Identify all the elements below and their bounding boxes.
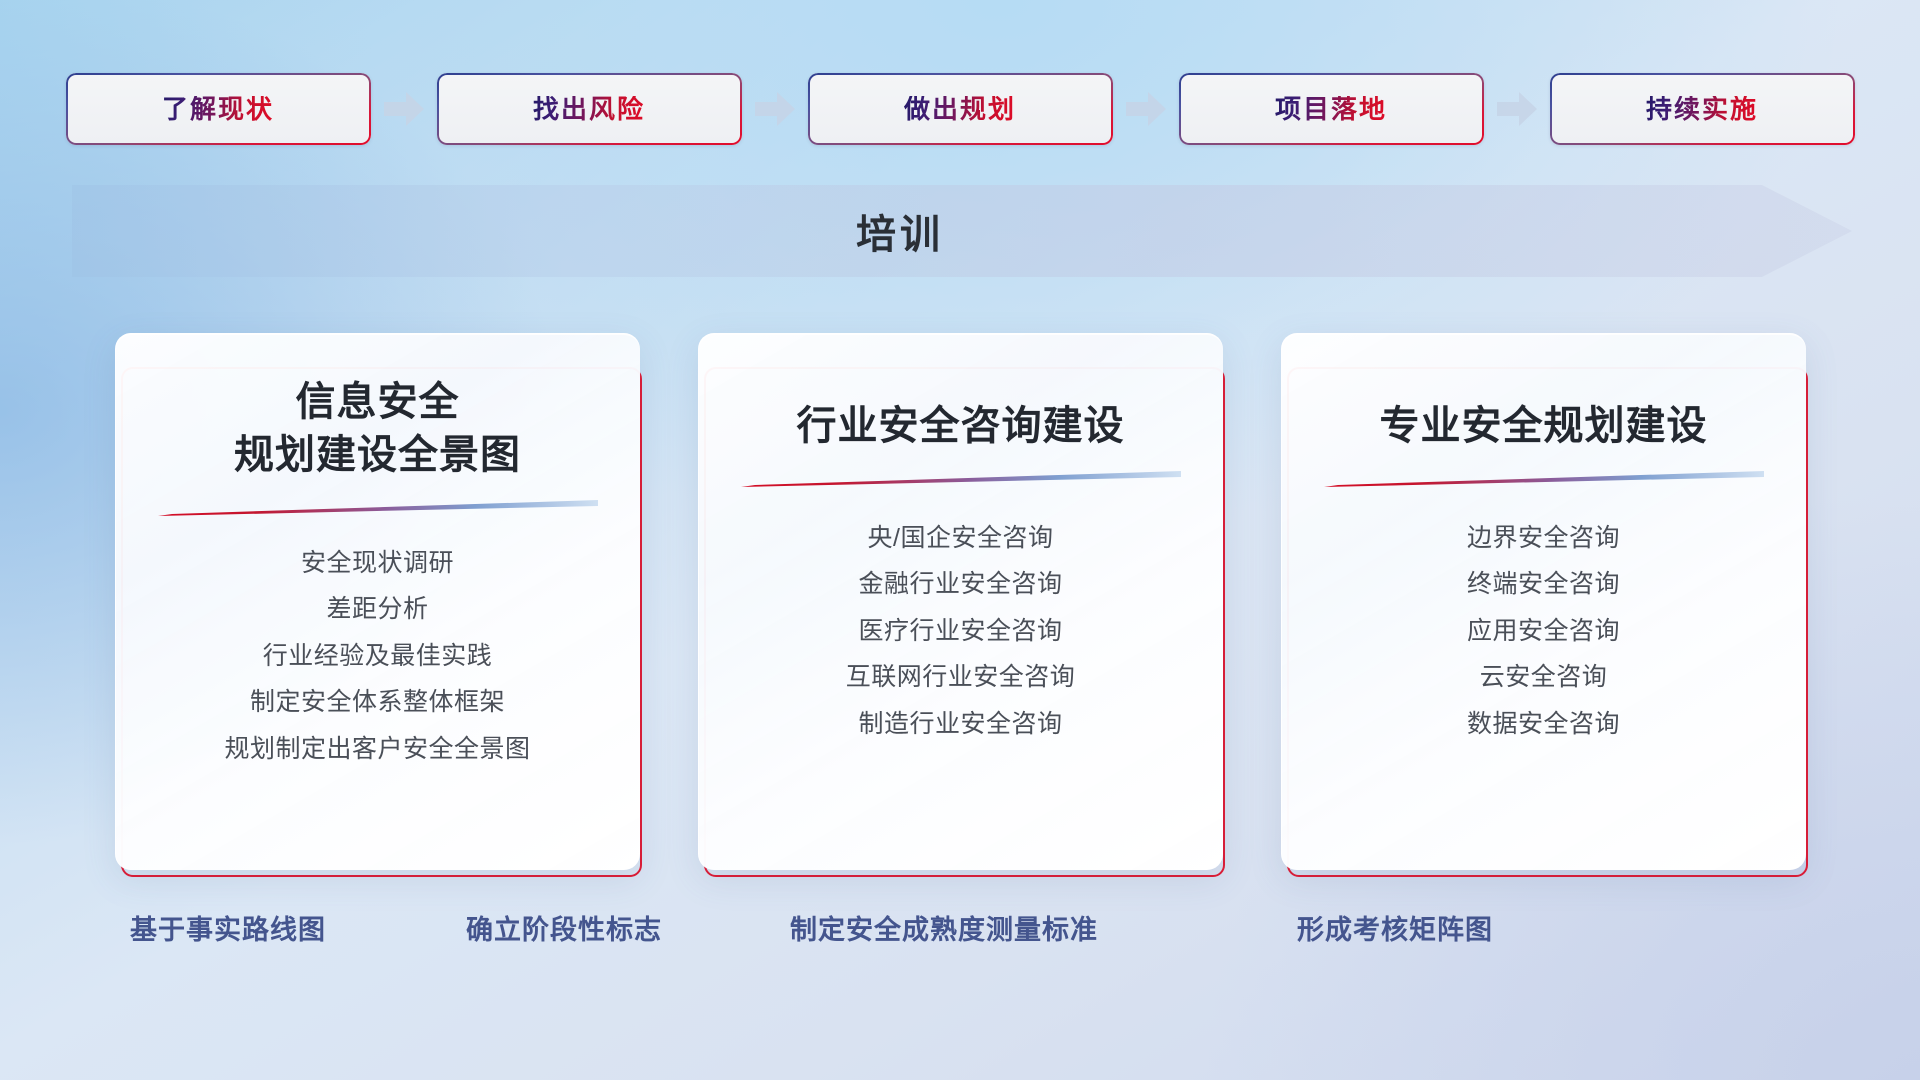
step-arrow-3 bbox=[1113, 73, 1179, 145]
divider-shape bbox=[741, 471, 1181, 487]
card-divider bbox=[741, 471, 1181, 487]
footer-label-row: 基于事实路线图确立阶段性标志制定安全成熟度测量标准形成考核矩阵图 bbox=[0, 908, 1920, 958]
step-pill-5[interactable]: 持续实施 bbox=[1550, 73, 1855, 145]
step-pill-1[interactable]: 了解现状 bbox=[66, 73, 371, 145]
card-list-item: 互联网行业安全咨询 bbox=[846, 660, 1076, 696]
divider-shape bbox=[1324, 471, 1764, 487]
step-pill-box-2[interactable]: 找出风险 bbox=[437, 73, 742, 145]
card-list-item: 数据安全咨询 bbox=[1467, 707, 1620, 743]
divider-shape bbox=[158, 500, 598, 516]
card-list-item: 安全现状调研 bbox=[301, 546, 454, 582]
step-pill-4[interactable]: 项目落地 bbox=[1179, 73, 1484, 145]
step-pill-box-5[interactable]: 持续实施 bbox=[1550, 73, 1855, 145]
card-list-item: 制造行业安全咨询 bbox=[858, 707, 1062, 743]
card-surface[interactable]: 信息安全 规划建设全景图安全现状调研差距分析行业经验及最佳实践制定安全体系整体框… bbox=[115, 333, 640, 870]
card-list-item: 医疗行业安全咨询 bbox=[858, 614, 1062, 650]
card-title: 信息安全 规划建设全景图 bbox=[234, 374, 521, 482]
arrow-right-icon bbox=[1497, 92, 1537, 126]
card-surface[interactable]: 专业安全规划建设边界安全咨询终端安全咨询应用安全咨询云安全咨询数据安全咨询 bbox=[1281, 333, 1806, 870]
step-pill-3[interactable]: 做出规划 bbox=[808, 73, 1113, 145]
card-list: 安全现状调研差距分析行业经验及最佳实践制定安全体系整体框架规划制定出客户安全全景… bbox=[224, 546, 530, 768]
step-pill-label: 项目落地 bbox=[1275, 96, 1387, 122]
step-pill-box-3[interactable]: 做出规划 bbox=[808, 73, 1113, 145]
step-arrow-2 bbox=[742, 73, 808, 145]
card-2: 行业安全咨询建设央/国企安全咨询金融行业安全咨询医疗行业安全咨询互联网行业安全咨… bbox=[698, 333, 1223, 878]
card-list: 央/国企安全咨询金融行业安全咨询医疗行业安全咨询互联网行业安全咨询制造行业安全咨… bbox=[846, 521, 1076, 743]
arrow-right-icon bbox=[384, 92, 424, 126]
card-divider bbox=[158, 500, 598, 516]
step-pill-box-1[interactable]: 了解现状 bbox=[66, 73, 371, 145]
arrow-right-icon bbox=[755, 92, 795, 126]
card-list-item: 云安全咨询 bbox=[1480, 660, 1608, 696]
card-list-item: 行业经验及最佳实践 bbox=[263, 639, 493, 675]
card-list-item: 央/国企安全咨询 bbox=[868, 521, 1054, 557]
card-surface[interactable]: 行业安全咨询建设央/国企安全咨询金融行业安全咨询医疗行业安全咨询互联网行业安全咨… bbox=[698, 333, 1223, 870]
card-title: 专业安全规划建设 bbox=[1380, 374, 1708, 453]
arrow-right-icon bbox=[1126, 92, 1166, 126]
step-pill-label: 持续实施 bbox=[1646, 96, 1758, 122]
step-arrow-1 bbox=[371, 73, 437, 145]
card-list-item: 规划制定出客户安全全景图 bbox=[224, 732, 530, 768]
process-steps: 了解现状找出风险做出规划项目落地持续实施 bbox=[0, 70, 1920, 148]
slide-canvas: 了解现状找出风险做出规划项目落地持续实施 培训 信息安全 规划建设全景图安全现状… bbox=[0, 0, 1920, 1080]
footer-label-1: 基于事实路线图 bbox=[130, 908, 326, 947]
step-pill-label: 找出风险 bbox=[533, 96, 645, 122]
training-banner: 培训 bbox=[72, 185, 1852, 277]
card-row: 信息安全 规划建设全景图安全现状调研差距分析行业经验及最佳实践制定安全体系整体框… bbox=[0, 333, 1920, 878]
footer-label-4: 形成考核矩阵图 bbox=[1297, 908, 1493, 947]
card-list: 边界安全咨询终端安全咨询应用安全咨询云安全咨询数据安全咨询 bbox=[1467, 521, 1620, 743]
footer-label-3: 制定安全成熟度测量标准 bbox=[790, 908, 1098, 947]
card-list-item: 应用安全咨询 bbox=[1467, 614, 1620, 650]
card-list-item: 差距分析 bbox=[326, 592, 428, 628]
card-list-item: 终端安全咨询 bbox=[1467, 567, 1620, 603]
banner-title: 培训 bbox=[10, 185, 1790, 277]
step-pill-box-4[interactable]: 项目落地 bbox=[1179, 73, 1484, 145]
card-list-item: 边界安全咨询 bbox=[1467, 521, 1620, 557]
card-list-item: 制定安全体系整体框架 bbox=[250, 685, 505, 721]
step-arrow-4 bbox=[1484, 73, 1550, 145]
footer-label-2: 确立阶段性标志 bbox=[466, 908, 662, 947]
card-1: 信息安全 规划建设全景图安全现状调研差距分析行业经验及最佳实践制定安全体系整体框… bbox=[115, 333, 640, 878]
step-pill-2[interactable]: 找出风险 bbox=[437, 73, 742, 145]
step-pill-label: 了解现状 bbox=[162, 96, 274, 122]
step-pill-label: 做出规划 bbox=[904, 96, 1016, 122]
card-title: 行业安全咨询建设 bbox=[797, 374, 1125, 453]
card-list-item: 金融行业安全咨询 bbox=[858, 567, 1062, 603]
card-3: 专业安全规划建设边界安全咨询终端安全咨询应用安全咨询云安全咨询数据安全咨询 bbox=[1281, 333, 1806, 878]
card-divider bbox=[1324, 471, 1764, 487]
